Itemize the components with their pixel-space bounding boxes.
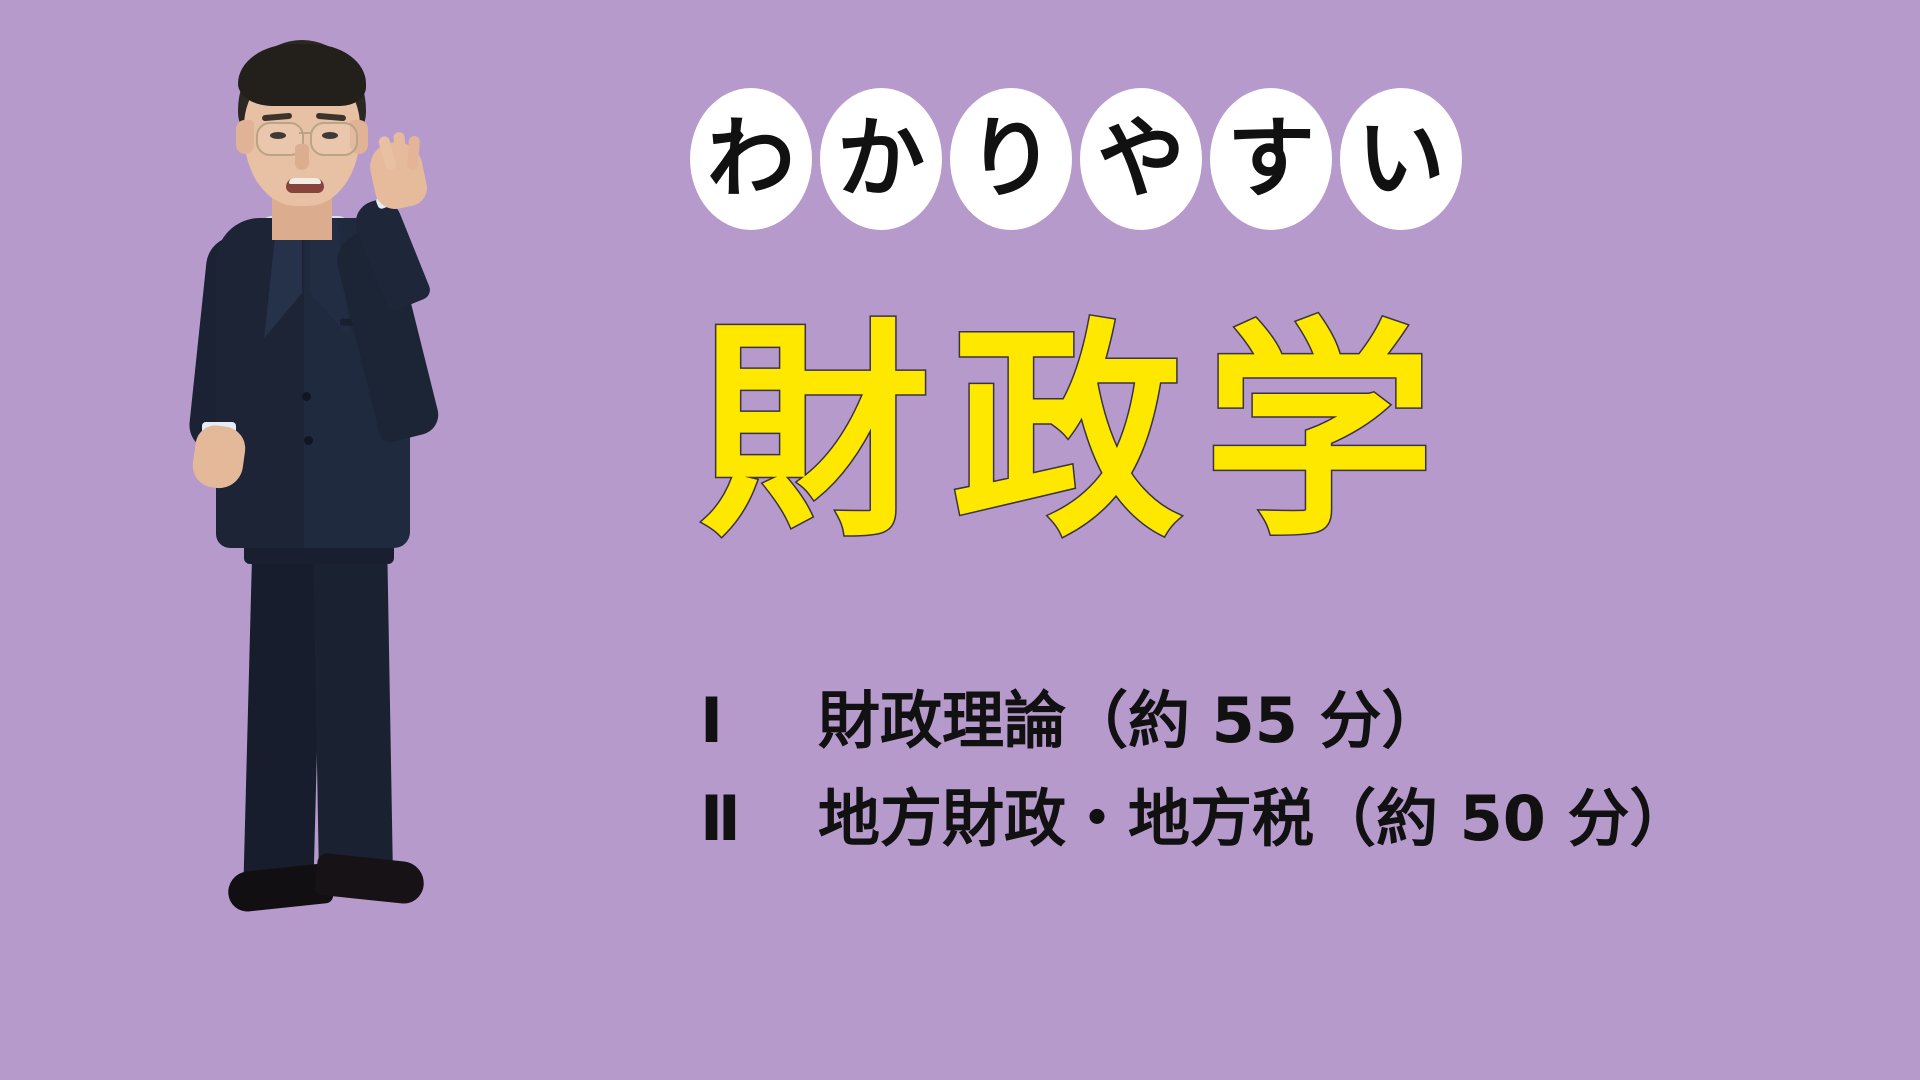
subtitle-line: Ⅱ 地方財政・地方税（約 50 分）: [700, 770, 1691, 868]
presenter-nose: [295, 144, 309, 170]
headline-kana-row: わ か り や す い: [690, 88, 1462, 230]
subtitle-list: Ⅰ 財政理論（約 55 分） Ⅱ 地方財政・地方税（約 50 分）: [700, 672, 1691, 868]
eyeglasses-icon: [310, 122, 358, 156]
kana-bubble: か: [820, 88, 942, 230]
subtitle-text: 地方財政・地方税（約 50 分）: [818, 770, 1691, 868]
slide-root: わ か り や す い 財政学 Ⅰ 財政理論（約 55 分） Ⅱ 地方財政・地方…: [0, 0, 1920, 1080]
presenter-right-leg: [313, 519, 393, 892]
presenter-jacket-button-bottom: [304, 436, 313, 445]
subtitle-numeral: Ⅰ: [700, 672, 818, 770]
presenter-jacket-button-top: [302, 392, 311, 401]
subtitle-text: 財政理論（約 55 分）: [818, 672, 1443, 770]
presenter-hair-fringe: [238, 44, 366, 106]
presenter-left-leg: [243, 519, 323, 901]
kana-bubble: や: [1080, 88, 1202, 230]
kana-bubble: い: [1340, 88, 1462, 230]
presenter-ear-left: [236, 120, 254, 154]
subtitle-numeral: Ⅱ: [700, 770, 818, 868]
kana-bubble: わ: [690, 88, 812, 230]
kana-bubble: す: [1210, 88, 1332, 230]
eyeglasses-bridge: [299, 132, 311, 134]
kana-bubble: り: [950, 88, 1072, 230]
presenter-teeth: [289, 178, 321, 184]
page-title: 財政学: [700, 320, 1456, 550]
presenter-finger: [407, 136, 420, 171]
presenter-photo: [120, 20, 480, 1080]
subtitle-line: Ⅰ 財政理論（約 55 分）: [700, 672, 1691, 770]
